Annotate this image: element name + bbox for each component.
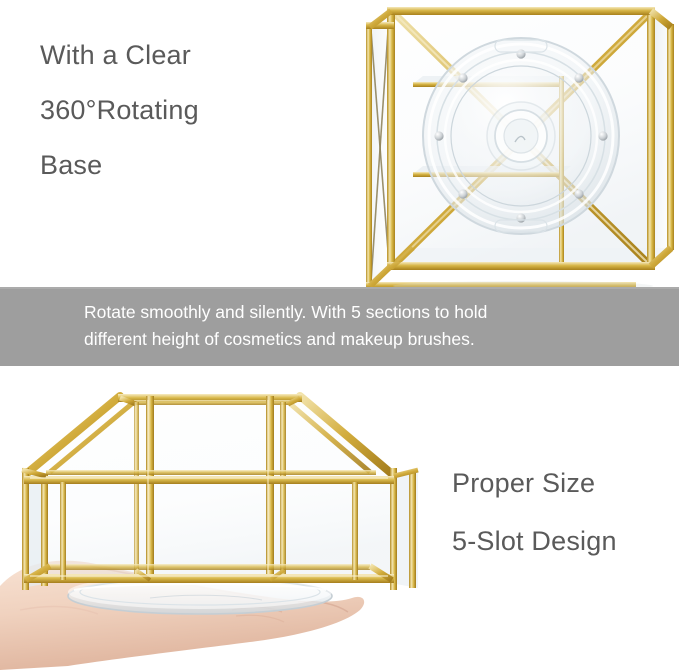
feature-banner: Rotate smoothly and silently. With 5 sec… xyxy=(0,287,679,366)
bottom-panel: Proper Size 5-Slot Design xyxy=(0,366,679,670)
top-headline: With a Clear 360°Rotating Base xyxy=(40,28,340,193)
top-headline-line-3: Base xyxy=(40,138,340,193)
banner-line-1: Rotate smoothly and silently. With 5 sec… xyxy=(84,299,624,326)
top-headline-line-2: 360°Rotating xyxy=(40,83,340,138)
bottom-headline-line-2: 5-Slot Design xyxy=(452,512,679,570)
rotating-base-turntable xyxy=(423,38,619,234)
organizer-in-hand-illustration xyxy=(0,374,450,670)
bottom-product-photo xyxy=(0,374,450,670)
top-headline-line-1: With a Clear xyxy=(40,28,340,83)
product-feature-image: With a Clear 360°Rotating Base xyxy=(0,0,679,670)
banner-text: Rotate smoothly and silently. With 5 sec… xyxy=(84,299,624,353)
bottom-headline: Proper Size 5-Slot Design xyxy=(452,454,679,570)
bottom-headline-line-1: Proper Size xyxy=(452,454,679,512)
top-panel: With a Clear 360°Rotating Base xyxy=(0,0,679,287)
banner-line-2: different height of cosmetics and makeup… xyxy=(84,326,624,353)
glass-brass-organizer-illustration xyxy=(355,0,679,287)
top-product-photo xyxy=(355,0,679,287)
